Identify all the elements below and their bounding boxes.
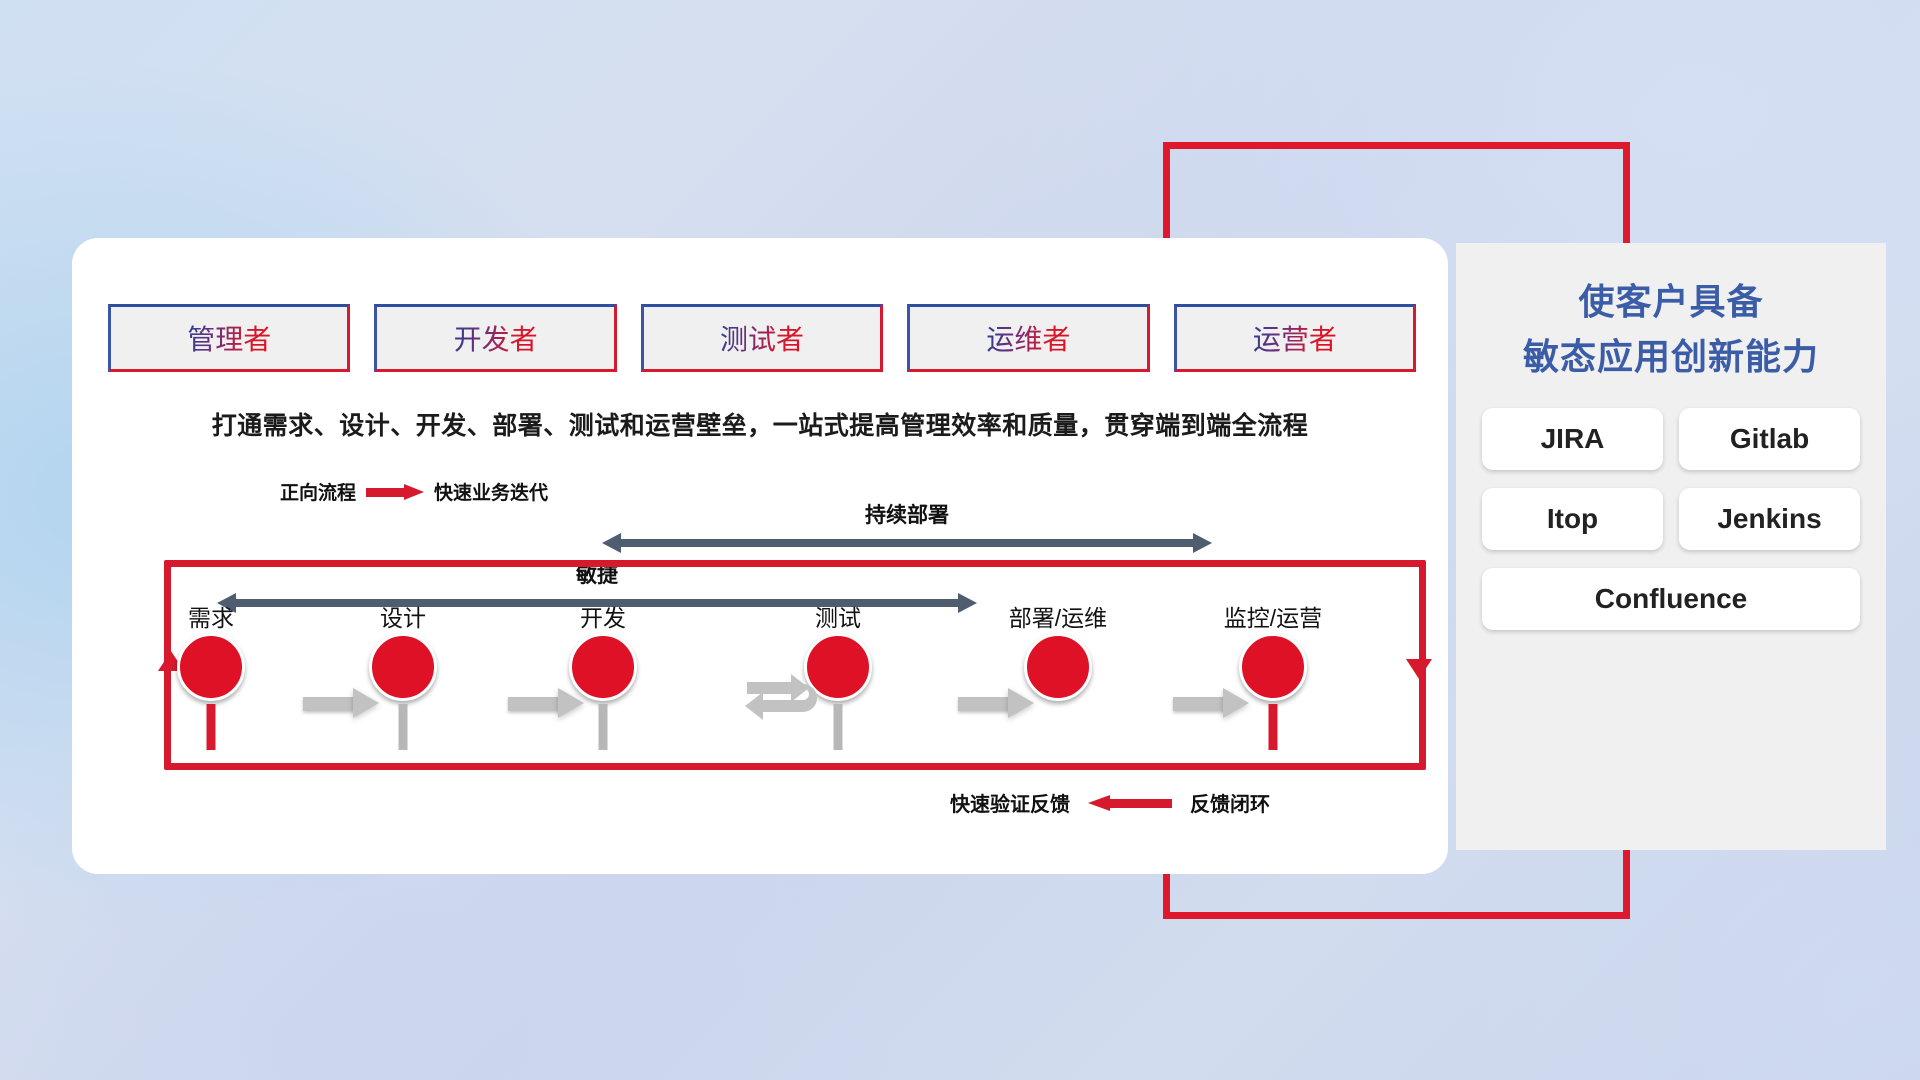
stage-node-dot <box>177 633 245 701</box>
arrow-head <box>1008 688 1034 718</box>
legend-forward-right-label: 快速业务迭代 <box>434 478 548 505</box>
outcome-panel: 使客户具备 敏态应用创新能力 JIRA Gitlab Itop Jenkins … <box>1456 243 1886 850</box>
tool-tag-grid: JIRA Gitlab Itop Jenkins Confluence <box>1482 408 1860 630</box>
arrow-shaft <box>303 697 357 711</box>
legend-feedback-loop: 快速验证反馈 反馈闭环 <box>950 788 1270 817</box>
pipeline-stage-development[interactable]: 开发 <box>528 606 678 701</box>
stage-label: 设计 <box>328 606 478 630</box>
role-label: 运维者 <box>986 318 1070 358</box>
arrow-shaft <box>958 697 1012 711</box>
stage-label: 开发 <box>528 606 678 630</box>
arrow-shaft <box>620 539 1194 547</box>
panel-title-line-1: 使客户具备 <box>1482 275 1860 330</box>
arrow-shaft <box>508 697 562 711</box>
flow-arrow-gray-icon <box>508 692 584 714</box>
stage-label: 部署/运维 <box>983 606 1133 630</box>
legend-forward-flow: 正向流程 快速业务迭代 <box>280 478 548 505</box>
pipeline-stage-requirement[interactable]: 需求 <box>136 606 286 701</box>
flow-arrow-gray-icon <box>958 692 1034 714</box>
pipeline-stage-deploy-ops[interactable]: 部署/运维 <box>983 606 1133 701</box>
arrow-left-red-icon <box>1088 795 1172 811</box>
stage-connector-stem <box>399 704 408 750</box>
tool-tag-jira[interactable]: JIRA <box>1482 408 1663 470</box>
flow-arrow-gray-icon <box>303 692 379 714</box>
pipeline-stage-design[interactable]: 设计 <box>328 606 478 701</box>
stage-connector-stem <box>834 704 843 750</box>
tool-tag-confluence[interactable]: Confluence <box>1482 568 1860 630</box>
panel-title-line-2: 敏态应用创新能力 <box>1482 330 1860 385</box>
arrow-left-head-icon <box>602 533 621 553</box>
arrow-head <box>1223 688 1249 718</box>
slide-canvas: 管理者 开发者 测试者 运维者 运营者 打通需求、设计、开发、部署、测试和运营壁… <box>0 0 1920 1080</box>
flow-arrow-gray-icon <box>1173 692 1249 714</box>
arrow-head <box>353 688 379 718</box>
stage-connector-stem <box>599 704 608 750</box>
arrow-head <box>558 688 584 718</box>
arrow-right-head-icon <box>1193 533 1212 553</box>
span-arrow-continuous-deployment: 持续部署 <box>602 533 1212 553</box>
main-white-card: 管理者 开发者 测试者 运维者 运营者 打通需求、设计、开发、部署、测试和运营壁… <box>72 238 1448 874</box>
span-arrow-label: 持续部署 <box>602 499 1212 529</box>
stage-label: 需求 <box>136 606 286 630</box>
stage-node-dot <box>1024 633 1092 701</box>
stage-label: 测试 <box>763 606 913 630</box>
role-label: 管理者 <box>187 318 271 358</box>
role-box-row: 管理者 开发者 测试者 运维者 运营者 <box>108 304 1416 372</box>
role-label: 测试者 <box>720 318 804 358</box>
stage-node-dot <box>1239 633 1307 701</box>
legend-feedback-left-label: 快速验证反馈 <box>950 788 1070 817</box>
stage-label: 监控/运营 <box>1198 606 1348 630</box>
pipeline-stage-monitor-operate[interactable]: 监控/运营 <box>1198 606 1348 701</box>
stage-connector-stem <box>1269 704 1278 750</box>
arrow-shaft <box>1173 697 1227 711</box>
stage-node-dot <box>369 633 437 701</box>
tool-tag-gitlab[interactable]: Gitlab <box>1679 408 1860 470</box>
role-label: 开发者 <box>454 318 538 358</box>
legend-feedback-right-label: 反馈闭环 <box>1190 788 1270 817</box>
headline-text: 打通需求、设计、开发、部署、测试和运营壁垒，一站式提高管理效率和质量，贯穿端到端… <box>72 406 1448 442</box>
loop-back-arrow-icon <box>733 670 829 732</box>
role-box-operations-maintenance[interactable]: 运维者 <box>907 304 1149 372</box>
role-label: 运营者 <box>1253 318 1337 358</box>
role-box-business-operator[interactable]: 运营者 <box>1174 304 1416 372</box>
role-box-developer[interactable]: 开发者 <box>374 304 616 372</box>
stage-connector-stem <box>207 704 216 750</box>
tool-tag-itop[interactable]: Itop <box>1482 488 1663 550</box>
tool-tag-jenkins[interactable]: Jenkins <box>1679 488 1860 550</box>
role-box-tester[interactable]: 测试者 <box>641 304 883 372</box>
legend-forward-left-label: 正向流程 <box>280 478 356 505</box>
role-box-manager[interactable]: 管理者 <box>108 304 350 372</box>
devops-pipeline: 需求 设计 开发 测试 部署/运维 <box>168 606 1428 776</box>
arrow-right-red-icon <box>366 484 424 500</box>
